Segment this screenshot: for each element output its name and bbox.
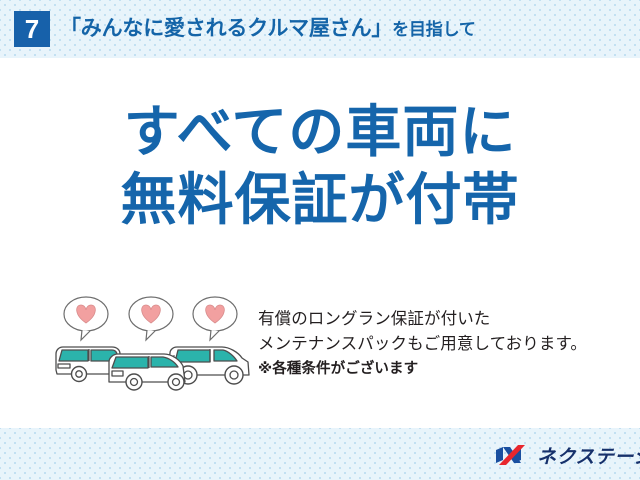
page-title: すべての車両に 無料保証が付帯 xyxy=(0,98,640,234)
body-copy: 有償のロングラン保証が付いた メンテナンスパックもご用意しております。 ※各種条… xyxy=(258,307,628,382)
vehicle-minivan xyxy=(109,354,185,390)
header-title-main: 「みんなに愛されるクルマ屋さん」 xyxy=(60,17,392,40)
vehicles-illustration xyxy=(52,292,252,398)
header-title-suffix: を目指して xyxy=(392,20,476,39)
brand-logo: ネクステージ xyxy=(494,440,640,470)
nextage-n-logo-icon xyxy=(494,443,530,467)
body-line-1: 有償のロングラン保証が付いた xyxy=(258,307,628,332)
header-title: 「みんなに愛されるクルマ屋さん」を目指して xyxy=(60,12,476,46)
body-line-2: メンテナンスパックもご用意しております。 xyxy=(258,332,628,357)
headline-line-2: 無料保証が付帯 xyxy=(0,166,640,234)
slide-number-badge: 7 xyxy=(14,11,50,47)
brand-name: ネクステージ xyxy=(537,442,640,469)
advertisement-slide: 7 「みんなに愛されるクルマ屋さん」を目指して すべての車両に 無料保証が付帯 xyxy=(0,0,640,480)
headline-line-1: すべての車両に xyxy=(0,98,640,166)
body-disclaimer: ※各種条件がございます xyxy=(258,357,628,382)
